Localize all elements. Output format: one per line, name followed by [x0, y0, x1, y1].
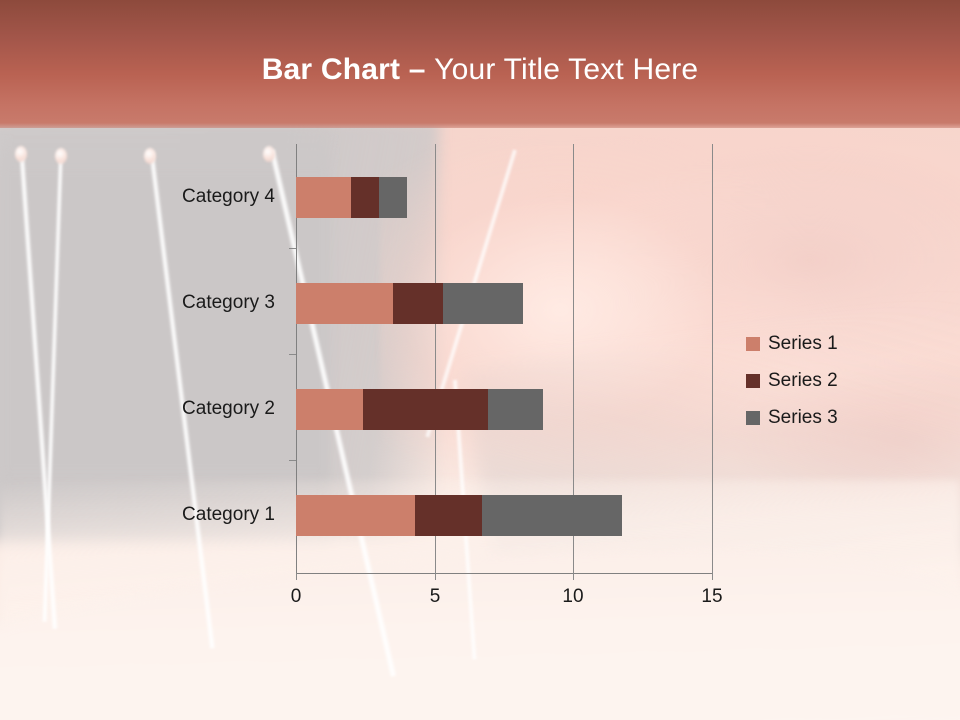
x-tick-label-15: 15	[701, 586, 722, 608]
category-label-4: Category 4	[182, 186, 275, 208]
legend-swatch-icon	[746, 374, 760, 388]
bar-segment-series-1[interactable]	[296, 283, 393, 324]
bar-segment-series-1[interactable]	[296, 389, 363, 430]
legend-item-series-3[interactable]: Series 3	[746, 399, 936, 436]
bar-row-category-1[interactable]	[296, 495, 622, 536]
slide: Bar Chart – Your Title Text Here 0 5 10 …	[0, 0, 960, 720]
legend-swatch-icon	[746, 337, 760, 351]
bar-segment-series-3[interactable]	[488, 389, 543, 430]
category-label-2: Category 2	[182, 398, 275, 420]
bar-chart: 0 5 10 15 Category 4 Category 3 Category…	[0, 0, 960, 720]
x-tick-15	[712, 573, 713, 580]
legend-item-series-2[interactable]: Series 2	[746, 362, 936, 399]
category-label-1: Category 1	[182, 504, 275, 526]
bar-segment-series-3[interactable]	[443, 283, 523, 324]
legend-label: Series 2	[768, 370, 838, 392]
y-tick-2	[289, 354, 296, 355]
y-tick-3	[289, 460, 296, 461]
bar-row-category-4[interactable]	[296, 177, 407, 218]
bar-segment-series-2[interactable]	[415, 495, 482, 536]
x-tick-10	[573, 573, 574, 580]
legend-swatch-icon	[746, 411, 760, 425]
x-tick-0	[296, 573, 297, 580]
bar-segment-series-2[interactable]	[351, 177, 379, 218]
x-tick-label-5: 5	[430, 586, 441, 608]
category-label-3: Category 3	[182, 292, 275, 314]
bar-segment-series-3[interactable]	[482, 495, 622, 536]
x-tick-label-0: 0	[291, 586, 302, 608]
x-axis-line	[296, 573, 713, 574]
bar-segment-series-2[interactable]	[363, 389, 488, 430]
gridline-15	[712, 144, 713, 574]
bar-row-category-3[interactable]	[296, 283, 523, 324]
bar-row-category-2[interactable]	[296, 389, 543, 430]
bar-segment-series-1[interactable]	[296, 495, 415, 536]
x-tick-label-10: 10	[562, 586, 583, 608]
chart-legend: Series 1 Series 2 Series 3	[746, 325, 936, 436]
legend-item-series-1[interactable]: Series 1	[746, 325, 936, 362]
bar-segment-series-1[interactable]	[296, 177, 351, 218]
bar-segment-series-2[interactable]	[393, 283, 443, 324]
bar-segment-series-3[interactable]	[379, 177, 407, 218]
legend-label: Series 3	[768, 407, 838, 429]
x-tick-5	[435, 573, 436, 580]
y-tick-1	[289, 248, 296, 249]
legend-label: Series 1	[768, 333, 838, 355]
